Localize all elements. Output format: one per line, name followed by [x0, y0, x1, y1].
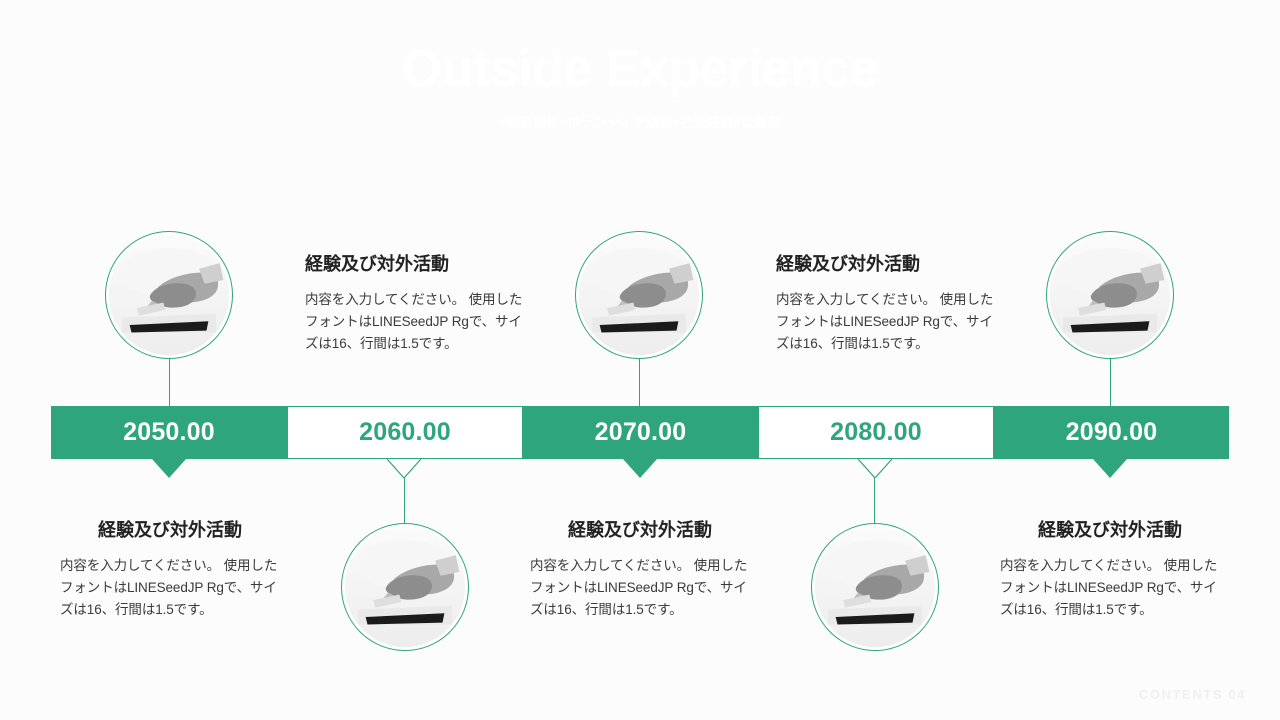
entry-text-bottom-1: 経験及び対外活動 内容を入力してください。 使用したフォントはLINESeedJ…	[60, 518, 280, 621]
entry-text-bottom-3: 経験及び対外活動 内容を入力してください。 使用したフォントはLINESeedJ…	[1000, 518, 1220, 621]
page-title: Outside Experience	[0, 38, 1280, 100]
entry-body: 内容を入力してください。 使用したフォントはLINESeedJP Rgで、サイズ…	[60, 555, 280, 621]
timeline-pointer-4	[858, 459, 892, 478]
connector-line-3	[639, 359, 640, 406]
contents-watermark: CONTENTS 04	[1139, 687, 1246, 702]
entry-title: 経験及び対外活動	[60, 518, 280, 542]
timeline-cell-2[interactable]: 2060.00	[287, 406, 523, 459]
hand-writing-icon-1	[109, 235, 229, 355]
timeline-cell-3[interactable]: 2070.00	[523, 406, 758, 459]
entry-image-2	[341, 523, 469, 651]
header-banner: Outside Experience #教育履修#ボランティア活動#社会経験#公…	[0, 0, 1280, 167]
entry-image-3	[575, 231, 703, 359]
connector-line-1	[169, 359, 170, 406]
chevron-down-icon-2	[387, 459, 421, 478]
entry-title: 経験及び対外活動	[1000, 518, 1220, 542]
entry-title: 経験及び対外活動	[530, 518, 750, 542]
entry-text-bottom-2: 経験及び対外活動 内容を入力してください。 使用したフォントはLINESeedJ…	[530, 518, 750, 621]
timeline-pointer-2	[387, 459, 421, 478]
hand-writing-icon-3	[579, 235, 699, 355]
timeline-year-label: 2060.00	[359, 418, 451, 447]
timeline-year-label: 2070.00	[595, 418, 687, 447]
slide-root: Outside Experience #教育履修#ボランティア活動#社会経験#公…	[0, 0, 1280, 720]
timeline-year-label: 2090.00	[1066, 418, 1158, 447]
timeline-bar: 2050.00 2060.00 2070.00 2080.00 2090.00	[51, 406, 1229, 459]
timeline-year-label: 2050.00	[123, 418, 215, 447]
timeline-pointer-3	[623, 459, 657, 478]
timeline-pointer-1	[152, 459, 186, 478]
entry-image-2-inner	[345, 527, 465, 647]
entry-body: 内容を入力してください。 使用したフォントはLINESeedJP Rgで、サイズ…	[1000, 555, 1220, 621]
hand-writing-icon-4	[815, 527, 935, 647]
entry-image-5	[1046, 231, 1174, 359]
entry-body: 内容を入力してください。 使用したフォントはLINESeedJP Rgで、サイズ…	[530, 555, 750, 621]
hand-writing-icon-2	[345, 527, 465, 647]
connector-line-5	[1110, 359, 1111, 406]
connector-line-4	[874, 478, 875, 523]
entry-text-top-2: 経験及び対外活動 内容を入力してください。 使用したフォントはLINESeedJ…	[776, 252, 996, 355]
timeline-year-label: 2080.00	[830, 418, 922, 447]
entry-image-1-inner	[109, 235, 229, 355]
entry-image-5-inner	[1050, 235, 1170, 355]
timeline-cell-5[interactable]: 2090.00	[994, 406, 1229, 459]
connector-line-2	[404, 478, 405, 523]
entry-title: 経験及び対外活動	[305, 252, 525, 276]
timeline-cell-4[interactable]: 2080.00	[758, 406, 994, 459]
entry-image-1	[105, 231, 233, 359]
chevron-down-icon-4	[858, 459, 892, 478]
timeline-cell-1[interactable]: 2050.00	[51, 406, 287, 459]
entry-image-3-inner	[579, 235, 699, 355]
entry-body: 内容を入力してください。 使用したフォントはLINESeedJP Rgで、サイズ…	[305, 289, 525, 355]
entry-body: 内容を入力してください。 使用したフォントはLINESeedJP Rgで、サイズ…	[776, 289, 996, 355]
entry-text-top-1: 経験及び対外活動 内容を入力してください。 使用したフォントはLINESeedJ…	[305, 252, 525, 355]
entry-image-4	[811, 523, 939, 651]
entry-title: 経験及び対外活動	[776, 252, 996, 276]
hand-writing-icon-5	[1050, 235, 1170, 355]
timeline-pointer-5	[1093, 459, 1127, 478]
entry-image-4-inner	[815, 527, 935, 647]
page-subtitle-hashtags: #教育履修#ボランティア活動#社会経験#公募展	[0, 112, 1280, 131]
